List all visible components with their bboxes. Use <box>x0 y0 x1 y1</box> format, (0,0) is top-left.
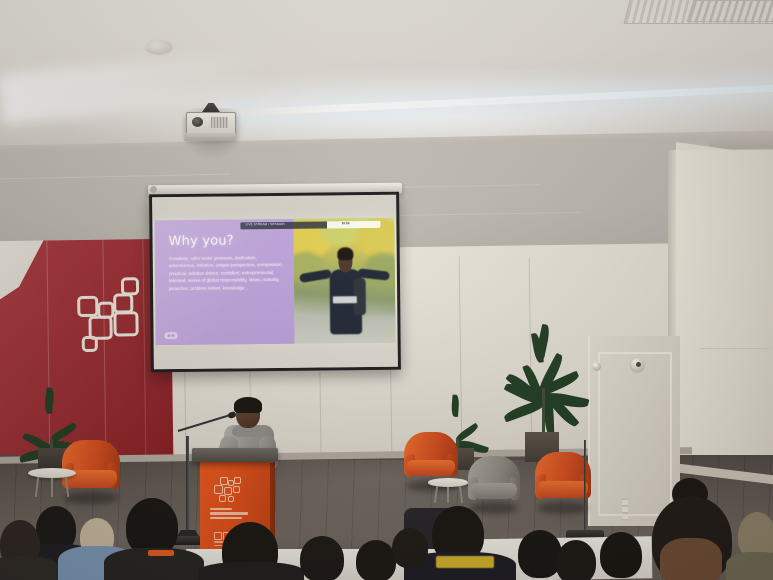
screen-blank-band <box>154 341 398 370</box>
screen-surface: Why you? Creativity, calm under pressure… <box>152 195 398 370</box>
projector-screen: Why you? Creativity, calm under pressure… <box>149 192 401 373</box>
photo-hoodie-text <box>333 297 357 304</box>
wall-logo-square <box>82 336 98 352</box>
table-leg <box>51 478 53 497</box>
table-top <box>28 468 76 478</box>
wall-seam <box>700 348 770 349</box>
door-handle-icon[interactable] <box>592 362 601 371</box>
lectern-top <box>192 448 278 462</box>
table-top <box>428 478 468 487</box>
projector-vent <box>211 117 228 128</box>
chair-seat <box>407 460 455 476</box>
slide-body-text: Creativity, calm under pressure, dedicat… <box>169 254 285 292</box>
tub-chair-right[interactable] <box>535 452 591 508</box>
wall-logo-square <box>113 311 138 336</box>
audience-shoulders <box>198 562 304 580</box>
photo-hair <box>338 247 354 260</box>
screen-housing-cap <box>150 186 157 193</box>
air-vent-icon <box>686 0 773 22</box>
presentation-slide: Why you? Creativity, calm under pressure… <box>154 218 395 346</box>
chair-shadow <box>537 502 589 514</box>
wall-sensor-lens <box>636 362 641 367</box>
presenter-hair <box>234 397 262 413</box>
chair-shadow <box>470 502 518 514</box>
conference-room-photo: Why you? Creativity, calm under pressure… <box>0 0 773 580</box>
audience-neck <box>660 538 722 580</box>
slide-corner-dots <box>385 331 393 339</box>
slide-banner-time: 10:00 <box>342 222 350 226</box>
table-leg <box>447 487 449 503</box>
microphone-stand-right <box>584 440 586 536</box>
photo-arm <box>299 269 332 284</box>
chair-seat <box>471 483 517 499</box>
lectern-wordmark <box>210 508 254 521</box>
wall-logo-square <box>77 296 98 317</box>
slide-text-panel: Why you? Creativity, calm under pressure… <box>154 219 294 345</box>
audience-head <box>518 530 562 578</box>
slide-photo-person <box>298 235 392 341</box>
audience-shoulders <box>726 552 773 580</box>
projector-ceiling-plate <box>184 133 236 141</box>
door-latch-plate <box>622 498 628 520</box>
boom-microphone-left <box>186 436 189 544</box>
table-leg <box>35 477 39 497</box>
audience-head <box>300 536 344 580</box>
table-leg <box>434 486 438 503</box>
audience-shoulders <box>0 556 58 580</box>
side-table-centre[interactable] <box>428 478 468 502</box>
ceiling-speaker-icon <box>146 40 172 53</box>
projector-lens-icon <box>192 117 203 127</box>
door-panel <box>598 352 672 516</box>
audience-head <box>392 528 428 568</box>
slide-title: Why you? <box>168 233 283 249</box>
side-table-left[interactable] <box>28 468 76 496</box>
table-leg <box>459 486 463 503</box>
audience-head <box>356 540 396 580</box>
chair-seat <box>538 481 587 498</box>
tub-chair-grey[interactable] <box>468 456 520 508</box>
table-leg <box>65 477 69 497</box>
wall-logo-square <box>121 277 139 295</box>
audience-head <box>556 540 596 580</box>
slide-photo-panel <box>294 218 396 344</box>
audience-head <box>600 532 642 578</box>
audience-lanyard <box>148 550 174 556</box>
audience-shirt-graphic <box>436 556 494 568</box>
slide-watermark-logo <box>165 332 178 339</box>
molecule-logo <box>210 477 244 505</box>
slide-banner-text: LIVE STREAM / SESSION <box>246 222 285 226</box>
